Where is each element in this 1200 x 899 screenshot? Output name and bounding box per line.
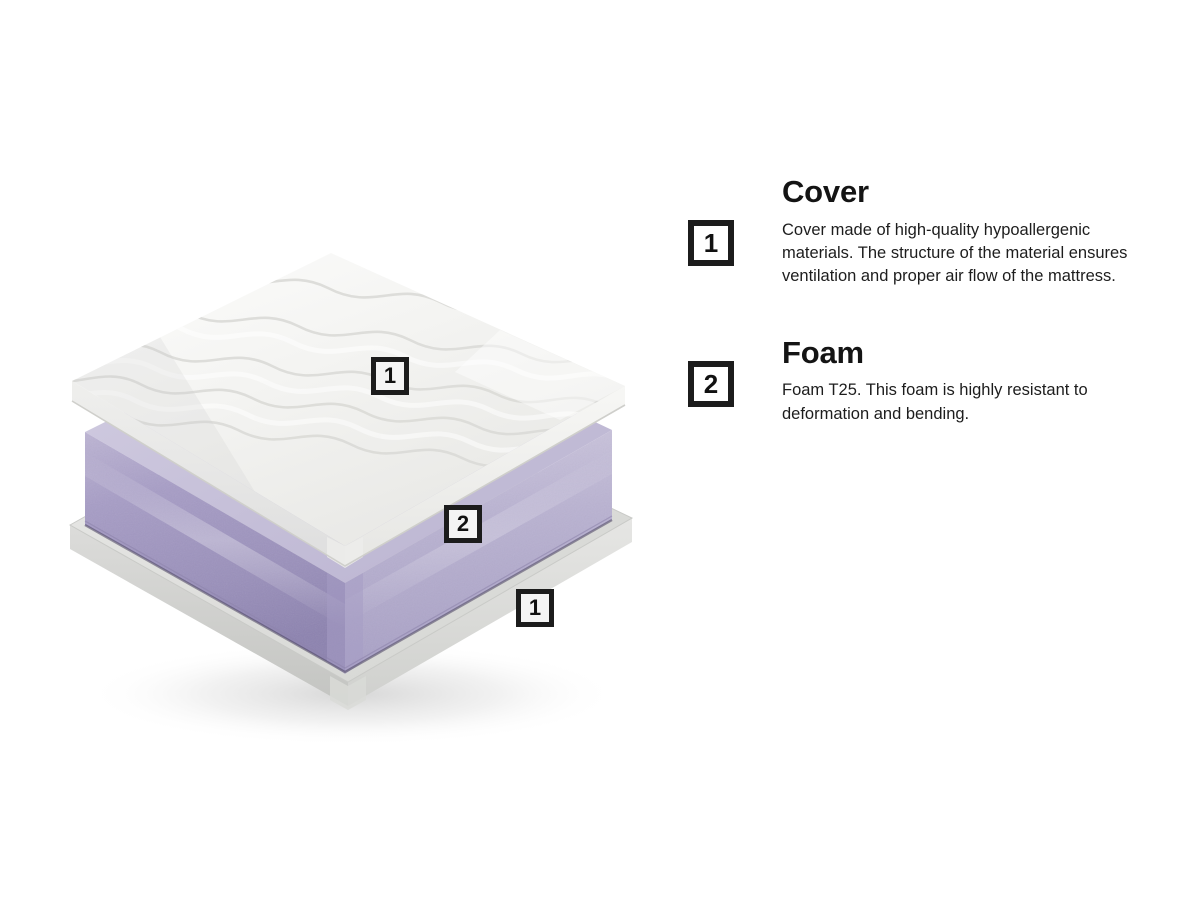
legend-text-foam: Foam Foam T25. This foam is highly resis… <box>782 337 1168 426</box>
marker-cover[interactable]: 1 <box>371 357 409 395</box>
legend-entry-foam: 2 Foam Foam T25. This foam is highly res… <box>688 337 1168 426</box>
legend-description-foam: Foam T25. This foam is highly resistant … <box>782 379 1152 426</box>
legend-entry-cover: 1 Cover Cover made of high-quality hypoa… <box>688 176 1168 289</box>
legend-title-foam: Foam <box>782 337 1168 370</box>
mattress-layers-diagram: 1 2 1 1 Cover Cover made of high-quality… <box>0 0 1200 899</box>
legend-title-cover: Cover <box>782 176 1168 209</box>
legend-badge-2[interactable]: 2 <box>688 361 734 407</box>
marker-foam[interactable]: 2 <box>444 505 482 543</box>
legend-badge-1[interactable]: 1 <box>688 220 734 266</box>
legend: 1 Cover Cover made of high-quality hypoa… <box>688 176 1168 426</box>
legend-description-cover: Cover made of high-quality hypoallergeni… <box>782 219 1152 289</box>
marker-base-cover[interactable]: 1 <box>516 589 554 627</box>
mattress-illustration: 1 2 1 <box>0 0 680 899</box>
legend-text-cover: Cover Cover made of high-quality hypoall… <box>782 176 1168 289</box>
